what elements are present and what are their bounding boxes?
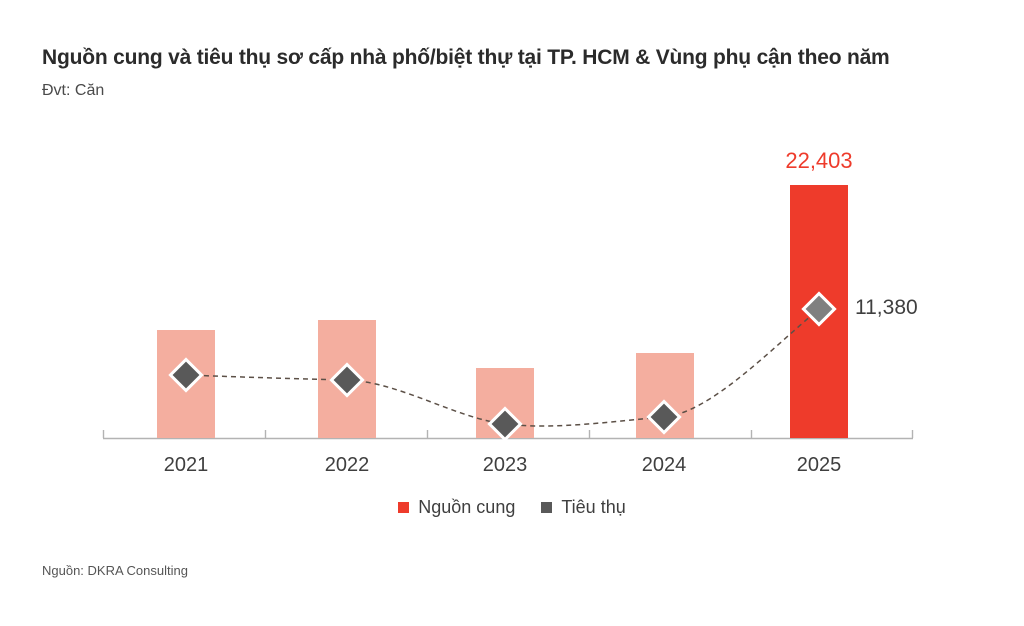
xtick-label-2023: 2023 [483,454,528,477]
line-markers [170,293,834,439]
legend-label-tieu-thu: Tiêu thụ [561,498,625,516]
xtick-label-2025: 2025 [797,454,842,477]
source-note: Nguồn: DKRA Consulting [42,563,188,578]
bar-value-label-2025: 22,403 [785,148,852,174]
legend-swatch-icon [398,502,409,513]
xtick-label-2022: 2022 [325,454,370,477]
chart-legend: Nguồn cung Tiêu thụ [0,498,1024,516]
legend-swatch-icon [541,502,552,513]
bar-series-nguon-cung [157,185,848,438]
xtick-label-2021: 2021 [164,454,209,477]
legend-item-tieu-thu[interactable]: Tiêu thụ [541,498,625,516]
xtick-label-2024: 2024 [642,454,687,477]
legend-item-nguon-cung[interactable]: Nguồn cung [398,498,515,516]
point-value-label-2025: 11,380 [855,296,918,320]
chart-page: Nguồn cung và tiêu thụ sơ cấp nhà phố/bi… [0,0,1024,626]
legend-label-nguon-cung: Nguồn cung [418,498,515,516]
